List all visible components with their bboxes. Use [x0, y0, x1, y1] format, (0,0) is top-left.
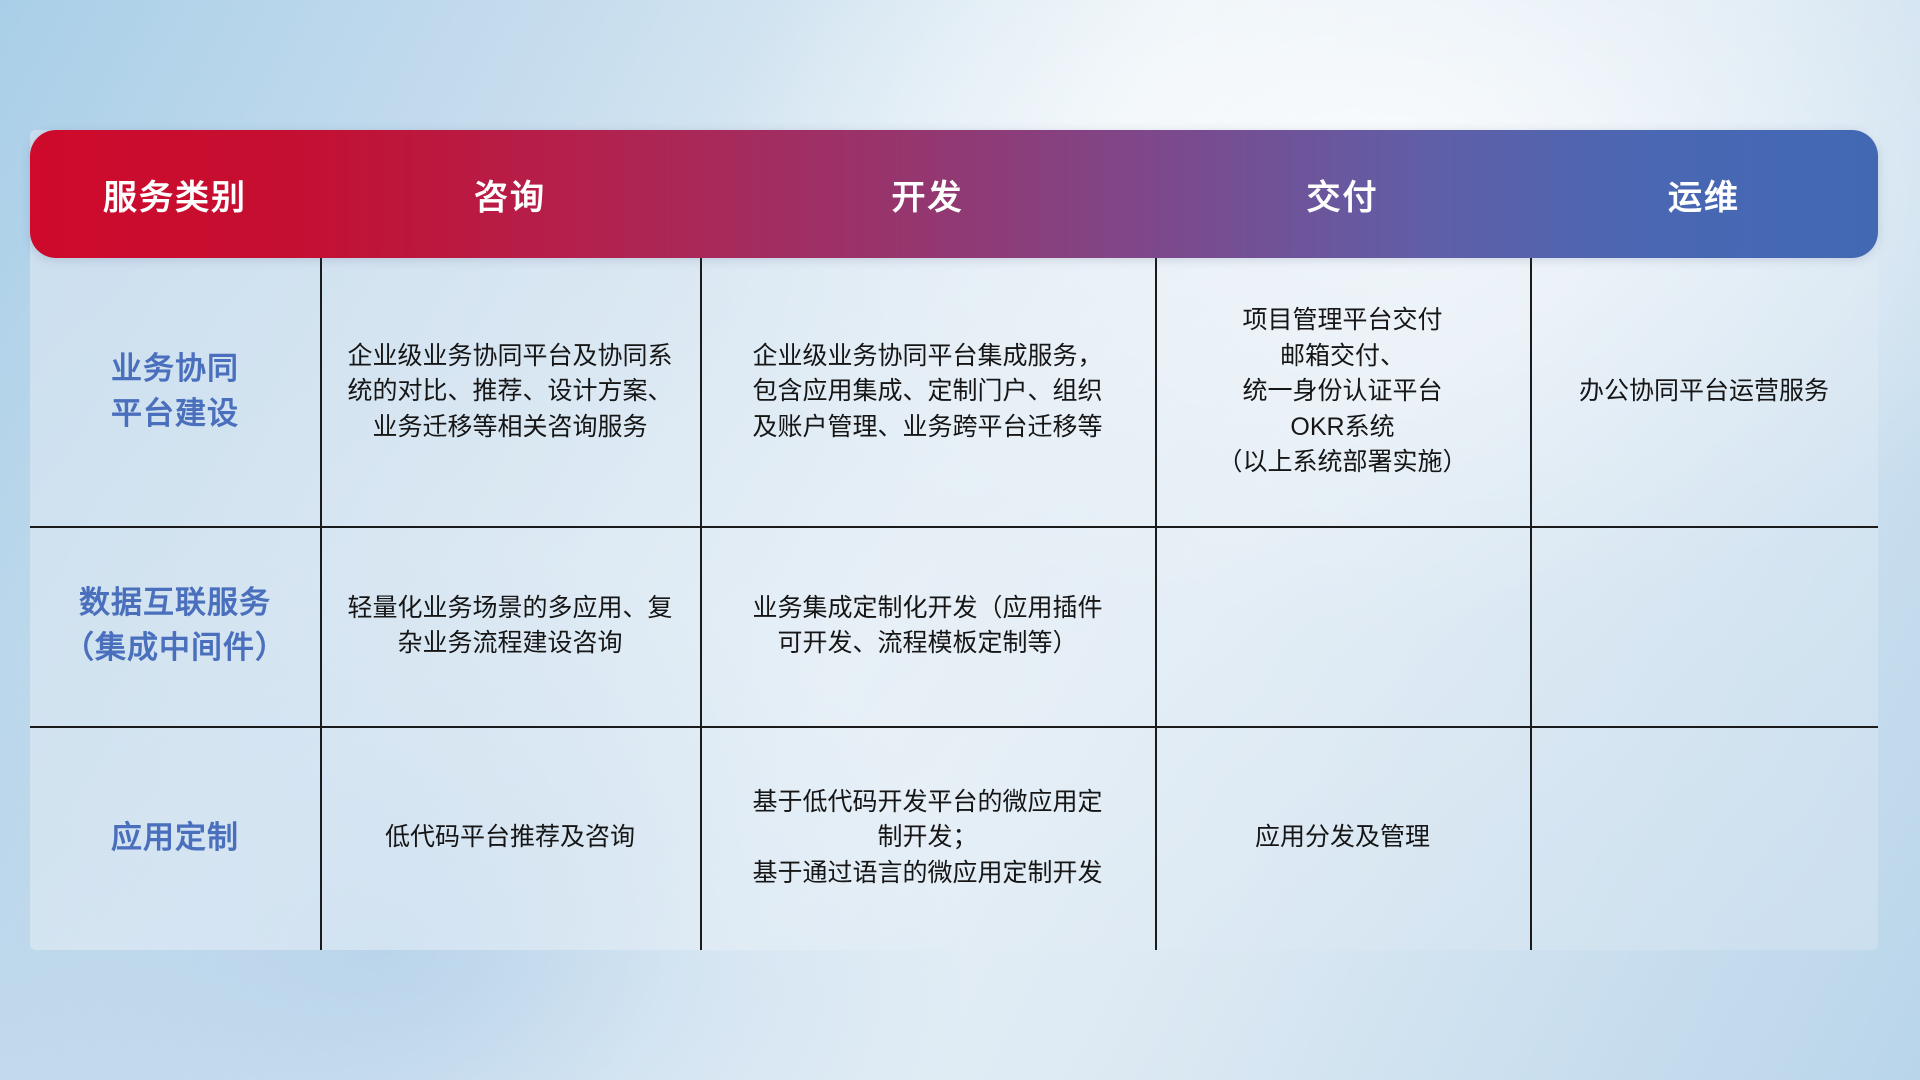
table-body: 业务协同 平台建设 企业级业务协同平台及协同系 统的对比、推荐、设计方案、 业务…: [30, 258, 1878, 950]
column-header-consulting: 咨询: [320, 170, 700, 219]
slide-canvas: 服务类别 咨询 开发 交付 运维 业务协同 平台建设 企业级业务协同平台及协同系…: [0, 0, 1920, 1080]
table-row: 数据互联服务 （集成中间件） 轻量化业务场景的多应用、复 杂业务流程建设咨询 业…: [30, 526, 1878, 726]
cell-consulting: 轻量化业务场景的多应用、复 杂业务流程建设咨询: [320, 526, 700, 726]
cell-development: 业务集成定制化开发（应用插件 可开发、流程模板定制等）: [700, 526, 1155, 726]
cell-operations: [1530, 726, 1878, 950]
row-label-cell: 数据互联服务 （集成中间件）: [30, 526, 320, 726]
cell-delivery: [1155, 526, 1530, 726]
cell-operations: 办公协同平台运营服务: [1530, 258, 1878, 526]
table-row: 应用定制 低代码平台推荐及咨询 基于低代码开发平台的微应用定 制开发； 基于通过…: [30, 726, 1878, 950]
cell-consulting: 企业级业务协同平台及协同系 统的对比、推荐、设计方案、 业务迁移等相关咨询服务: [320, 258, 700, 526]
cell-development: 企业级业务协同平台集成服务， 包含应用集成、定制门户、组织 及账户管理、业务跨平…: [700, 258, 1155, 526]
cell-operations: [1530, 526, 1878, 726]
cell-delivery: 项目管理平台交付 邮箱交付、 统一身份认证平台 OKR系统 （以上系统部署实施）: [1155, 258, 1530, 526]
cell-development: 基于低代码开发平台的微应用定 制开发； 基于通过语言的微应用定制开发: [700, 726, 1155, 950]
column-header-delivery: 交付: [1155, 170, 1530, 219]
service-matrix-table: 服务类别 咨询 开发 交付 运维 业务协同 平台建设 企业级业务协同平台及协同系…: [30, 130, 1878, 950]
column-header-category: 服务类别: [30, 170, 320, 219]
cell-consulting: 低代码平台推荐及咨询: [320, 726, 700, 950]
column-header-operations: 运维: [1530, 170, 1878, 219]
row-label-cell: 业务协同 平台建设: [30, 258, 320, 526]
row-label-cell: 应用定制: [30, 726, 320, 950]
table-header-row: 服务类别 咨询 开发 交付 运维: [30, 130, 1878, 258]
cell-delivery: 应用分发及管理: [1155, 726, 1530, 950]
column-header-development: 开发: [700, 170, 1155, 219]
table-row: 业务协同 平台建设 企业级业务协同平台及协同系 统的对比、推荐、设计方案、 业务…: [30, 258, 1878, 526]
